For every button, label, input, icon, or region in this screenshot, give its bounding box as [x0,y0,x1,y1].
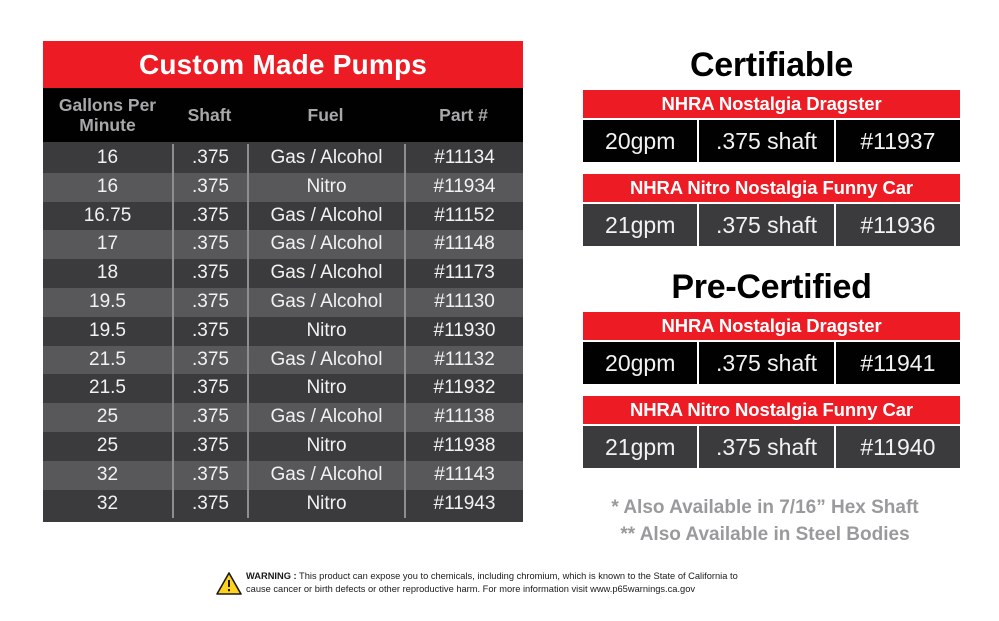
table-row: 21.5.375Gas / Alcohol#11132 [43,346,523,375]
table-row: 19.5.375Nitro#11930 [43,317,523,346]
cell-shaft: .375 [172,490,247,519]
certification-block: NHRA Nostalgia Dragster20gpm.375 shaft#1… [583,312,960,384]
certifiable-blocks: NHRA Nostalgia Dragster20gpm.375 shaft#1… [583,90,960,246]
cell-shaft: .375 [172,173,247,202]
cell-gallons-per-minute: 19.5 [43,317,172,346]
cell-gpm: 20gpm [583,342,697,384]
cell-gallons-per-minute: 17 [43,230,172,259]
cell-part-number: #11940 [836,426,960,468]
cell-shaft: .375 [172,202,247,231]
column-header-part-number: Part # [404,88,523,142]
cell-gallons-per-minute: 18 [43,259,172,288]
cell-shaft: .375 [172,288,247,317]
table-row: 25.375Nitro#11938 [43,432,523,461]
cell-shaft: .375 [172,432,247,461]
cell-gallons-per-minute: 25 [43,403,172,432]
table-row: 32.375Nitro#11943 [43,490,523,519]
cell-shaft: .375 [172,461,247,490]
table-row: 16.375Nitro#11934 [43,173,523,202]
cell-shaft: .375 [172,374,247,403]
prop65-warning: WARNING : This product can expose you to… [216,570,856,600]
table-row: 17.375Gas / Alcohol#11148 [43,230,523,259]
pumps-table-body: 16.375Gas / Alcohol#1113416.375Nitro#119… [43,142,523,522]
warning-line-1: This product can expose you to chemicals… [297,571,738,581]
cell-fuel: Nitro [247,432,404,461]
cell-fuel: Gas / Alcohol [247,144,404,173]
cell-fuel: Gas / Alcohol [247,259,404,288]
cell-part-number: #11937 [836,120,960,162]
cell-fuel: Gas / Alcohol [247,202,404,231]
cell-shaft: .375 [172,403,247,432]
table-row: 32.375Gas / Alcohol#11143 [43,461,523,490]
certification-block-heading: NHRA Nitro Nostalgia Funny Car [583,396,960,424]
cell-part-number: #11152 [404,202,523,231]
cell-shaft: .375 [172,317,247,346]
cell-gallons-per-minute: 19.5 [43,288,172,317]
precertified-title: Pre-Certified [583,266,960,308]
cell-part-number: #11943 [404,490,523,519]
cell-gallons-per-minute: 21.5 [43,346,172,375]
cell-fuel: Nitro [247,490,404,519]
warning-triangle-icon [216,572,242,600]
cell-part-number: #11938 [404,432,523,461]
block-spacer [583,384,960,392]
column-header-gallons-per-minute: Gallons Per Minute [43,88,172,142]
cell-fuel: Gas / Alcohol [247,346,404,375]
footnotes: * Also Available in 7/16” Hex Shaft ** A… [560,494,970,548]
cell-part-number: #11173 [404,259,523,288]
certification-spec-row: 21gpm.375 shaft#11936 [583,204,960,246]
warning-text: WARNING : This product can expose you to… [246,570,738,595]
cell-part-number: #11932 [404,374,523,403]
cell-part-number: #11936 [836,204,960,246]
cell-shaft: .375 [172,259,247,288]
table-row: 16.375Gas / Alcohol#11134 [43,142,523,173]
cell-gpm: 21gpm [583,204,697,246]
cell-shaft: .375 shaft [699,204,833,246]
cell-gallons-per-minute: 25 [43,432,172,461]
cell-fuel: Gas / Alcohol [247,230,404,259]
cell-part-number: #11148 [404,230,523,259]
warning-line-2: cause cancer or birth defects or other r… [246,584,695,594]
cell-part-number: #11130 [404,288,523,317]
pumps-table-header-row: Gallons Per Minute Shaft Fuel Part # [43,88,523,142]
cell-part-number: #11138 [404,403,523,432]
certification-block-heading: NHRA Nostalgia Dragster [583,312,960,340]
cell-gallons-per-minute: 16.75 [43,202,172,231]
pumps-table-title: Custom Made Pumps [43,41,523,88]
cell-shaft: .375 [172,346,247,375]
precertified-blocks: NHRA Nostalgia Dragster20gpm.375 shaft#1… [583,312,960,468]
table-row: 19.5.375Gas / Alcohol#11130 [43,288,523,317]
footnote-hex-shaft: * Also Available in 7/16” Hex Shaft [560,494,970,521]
cell-gpm: 21gpm [583,426,697,468]
cell-gpm: 20gpm [583,120,697,162]
cell-part-number: #11941 [836,342,960,384]
certification-block: NHRA Nitro Nostalgia Funny Car21gpm.375 … [583,396,960,468]
cell-shaft: .375 shaft [699,342,833,384]
cell-part-number: #11134 [404,144,523,173]
cell-shaft: .375 [172,230,247,259]
table-row: 16.75.375Gas / Alcohol#11152 [43,202,523,231]
footnote-steel-bodies: ** Also Available in Steel Bodies [560,521,970,548]
table-row: 18.375Gas / Alcohol#11173 [43,259,523,288]
cell-fuel: Nitro [247,173,404,202]
certifiable-title: Certifiable [583,44,960,86]
table-row: 25.375Gas / Alcohol#11138 [43,403,523,432]
certification-spec-row: 20gpm.375 shaft#11941 [583,342,960,384]
cell-fuel: Gas / Alcohol [247,288,404,317]
table-row: 21.5.375Nitro#11932 [43,374,523,403]
cell-gallons-per-minute: 21.5 [43,374,172,403]
cell-shaft: .375 [172,144,247,173]
certification-spec-row: 20gpm.375 shaft#11937 [583,120,960,162]
cell-part-number: #11930 [404,317,523,346]
certification-block: NHRA Nitro Nostalgia Funny Car21gpm.375 … [583,174,960,246]
certification-block: NHRA Nostalgia Dragster20gpm.375 shaft#1… [583,90,960,162]
cell-gallons-per-minute: 32 [43,461,172,490]
certification-spec-row: 21gpm.375 shaft#11940 [583,426,960,468]
certification-block-heading: NHRA Nostalgia Dragster [583,90,960,118]
cell-part-number: #11143 [404,461,523,490]
cell-fuel: Gas / Alcohol [247,461,404,490]
cell-fuel: Nitro [247,317,404,346]
block-spacer [583,162,960,170]
cell-part-number: #11132 [404,346,523,375]
precertified-section: Pre-Certified NHRA Nostalgia Dragster20g… [583,266,960,468]
column-header-fuel: Fuel [247,88,404,142]
cell-shaft: .375 shaft [699,426,833,468]
custom-made-pumps-table: Custom Made Pumps Gallons Per Minute Sha… [43,41,523,522]
cell-gallons-per-minute: 16 [43,173,172,202]
warning-label: WARNING : [246,571,297,581]
cell-fuel: Gas / Alcohol [247,403,404,432]
cell-shaft: .375 shaft [699,120,833,162]
certifiable-section: Certifiable NHRA Nostalgia Dragster20gpm… [583,44,960,246]
certification-block-heading: NHRA Nitro Nostalgia Funny Car [583,174,960,202]
cell-gallons-per-minute: 32 [43,490,172,519]
column-header-shaft: Shaft [172,88,247,142]
cell-part-number: #11934 [404,173,523,202]
cell-gallons-per-minute: 16 [43,144,172,173]
cell-fuel: Nitro [247,374,404,403]
